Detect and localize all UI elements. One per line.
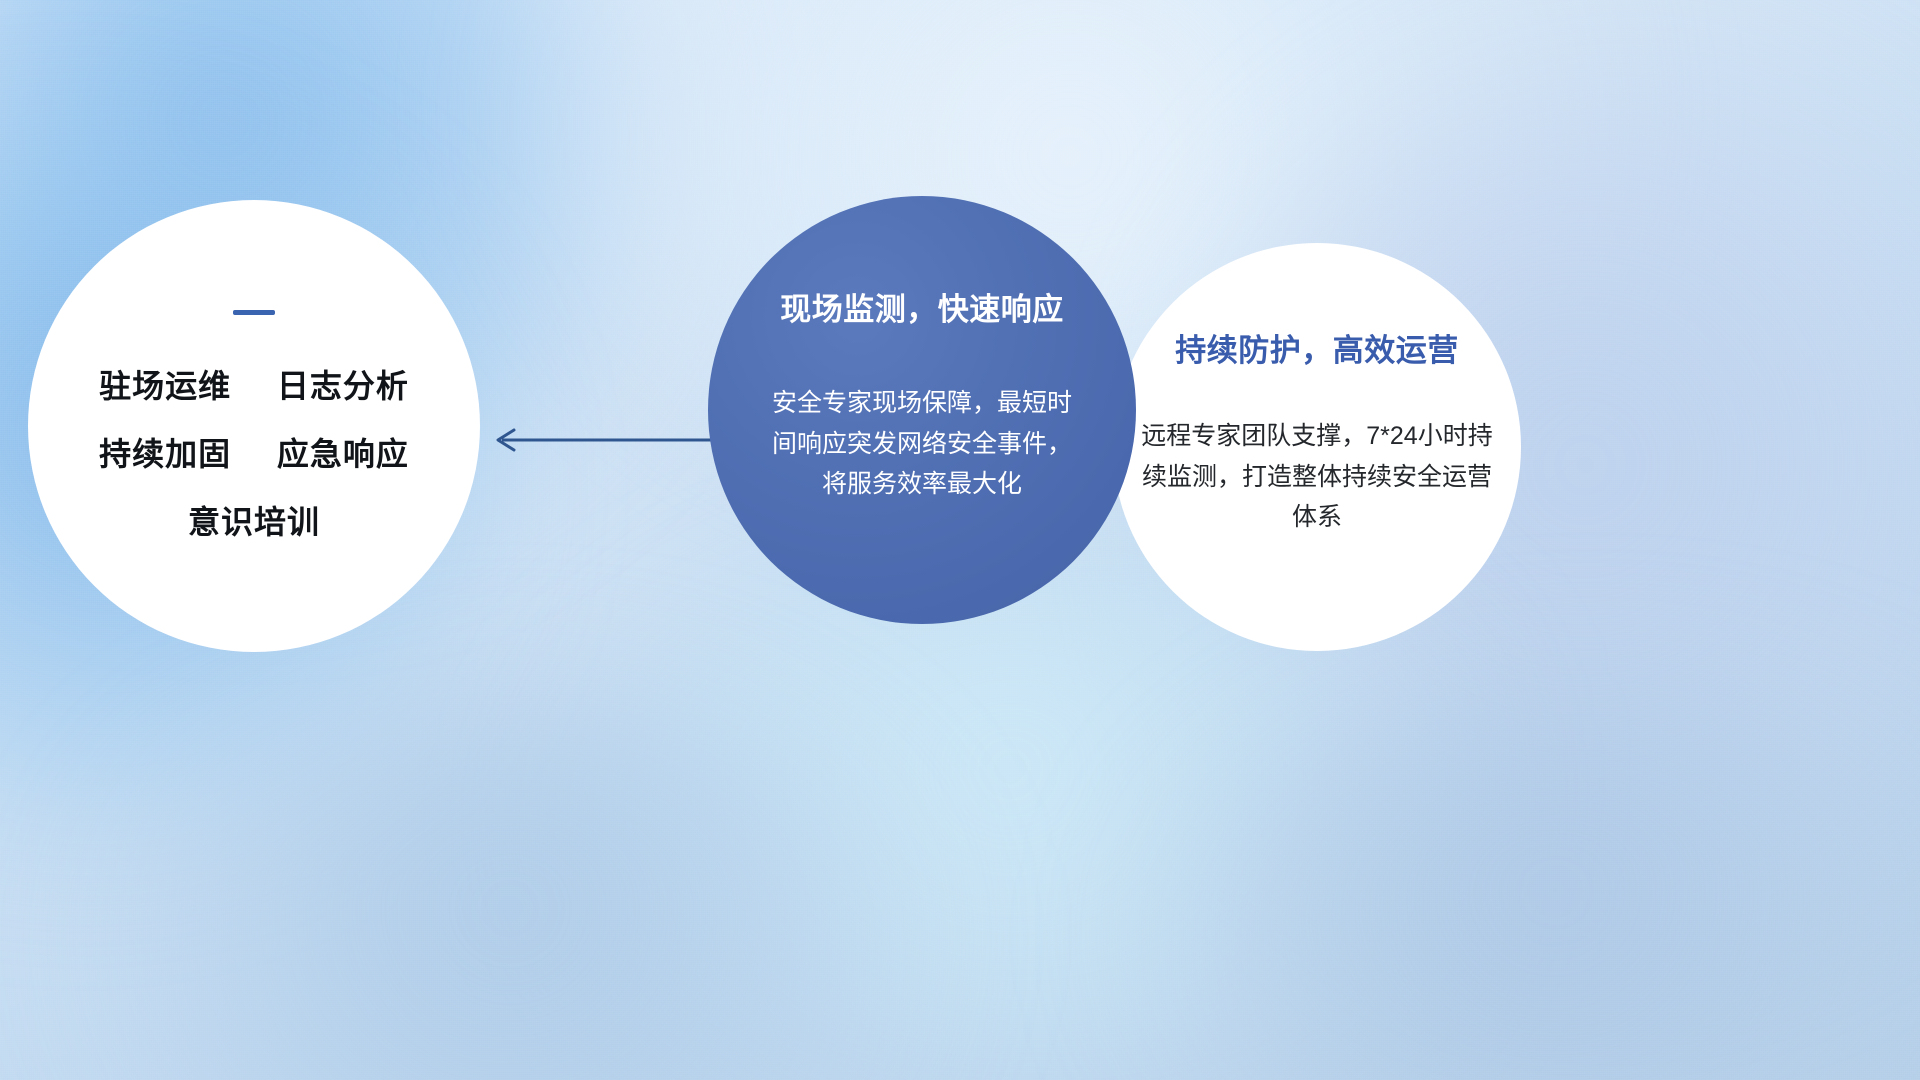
- left-keyword-5: 意识培训: [188, 504, 320, 540]
- left-circle-divider: [233, 310, 275, 315]
- right-circle-title: 持续防护，高效运营: [1175, 325, 1459, 370]
- right-feature-circle[interactable]: 持续防护，高效运营 远程专家团队支撑，7*24小时持续监测，打造整体持续安全运营…: [1113, 243, 1521, 651]
- left-keyword-row-1: 驻场运维 日志分析: [99, 361, 409, 407]
- left-circle-keyword-list: 驻场运维 日志分析 持续加固 应急响应 意识培训: [99, 361, 409, 543]
- left-keyword-4: 应急响应: [277, 436, 409, 472]
- middle-circle-title: 现场监测，快速响应: [780, 284, 1064, 329]
- left-keyword-1: 驻场运维: [99, 368, 231, 404]
- left-keyword-row-3: 意识培训: [188, 497, 320, 543]
- slide-canvas: 驻场运维 日志分析 持续加固 应急响应 意识培训 持续防护，高效运营 远程专家团…: [0, 0, 1920, 1080]
- left-capability-circle[interactable]: 驻场运维 日志分析 持续加固 应急响应 意识培训: [28, 200, 480, 652]
- left-keyword-row-2: 持续加固 应急响应: [99, 429, 409, 475]
- middle-feature-circle[interactable]: 现场监测，快速响应 安全专家现场保障，最短时间响应突发网络安全事件，将服务效率最…: [708, 196, 1136, 624]
- right-circle-body: 远程专家团队支撑，7*24小时持续监测，打造整体持续安全运营体系: [1139, 416, 1495, 538]
- middle-circle-body: 安全专家现场保障，最短时间响应突发网络安全事件，将服务效率最大化: [772, 383, 1072, 505]
- left-keyword-3: 持续加固: [99, 436, 231, 472]
- left-keyword-2: 日志分析: [277, 368, 409, 404]
